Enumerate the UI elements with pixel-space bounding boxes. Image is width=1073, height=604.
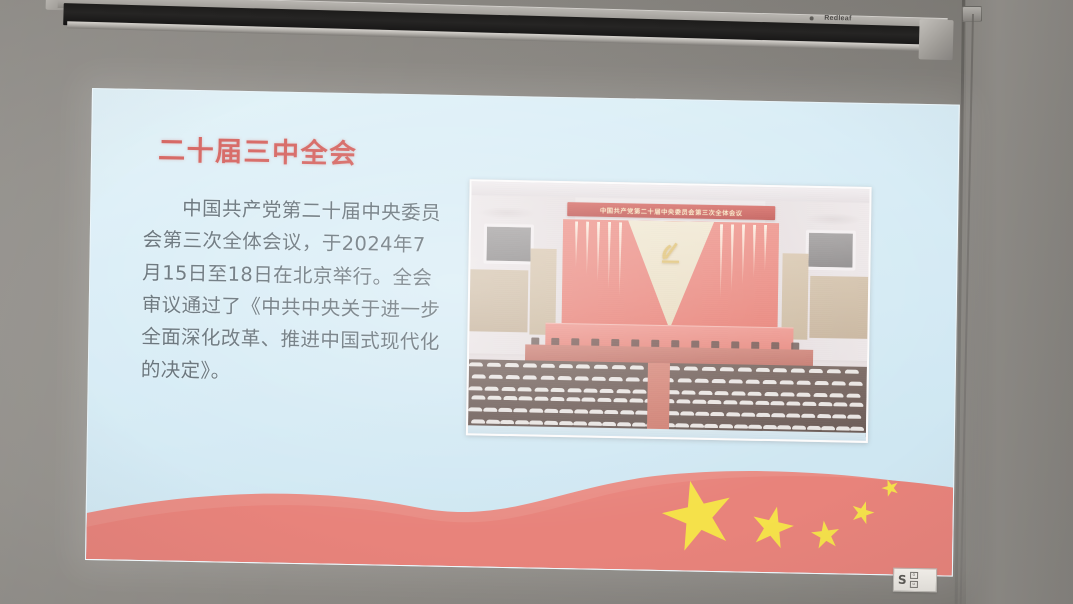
seat-headrest (472, 374, 486, 378)
seat-headrest (676, 399, 690, 403)
seat-headrest (731, 391, 745, 395)
seat-headrest (834, 402, 848, 406)
flag-star-small (750, 504, 795, 549)
seat-headrest (817, 414, 831, 418)
seat-headrest (830, 393, 844, 397)
seat-headrest (566, 397, 580, 401)
seat-headrest (802, 402, 816, 406)
sticker-glyph: S (898, 574, 907, 586)
seat-headrest (748, 392, 762, 396)
seat-headrest (746, 380, 760, 384)
seat-headrest (633, 389, 647, 393)
stage-flag (752, 225, 756, 278)
seat-headrest (605, 410, 619, 414)
seat-headrest (519, 396, 533, 400)
seat-headrest (729, 379, 743, 383)
stage-backdrop (562, 219, 780, 331)
hall-wall-panel-left (483, 224, 534, 265)
hall-banner-text: 中国共产党第二十届中央委员会第三次全体会议 (600, 205, 743, 217)
seat-headrest (847, 415, 861, 419)
seat-headrest (831, 381, 845, 385)
seat-headrest (469, 386, 483, 390)
seat-headrest (708, 400, 722, 404)
seat-headrest (485, 387, 499, 391)
stage-flag (741, 225, 745, 285)
seat-headrest (559, 409, 573, 413)
seat-headrest (468, 407, 482, 411)
seat-headrest (764, 392, 778, 396)
seat-headrest (773, 368, 787, 372)
seat-headrest (832, 414, 846, 418)
seat-headrest (609, 377, 623, 381)
stage-flags (562, 219, 780, 331)
seat-headrest (755, 368, 769, 372)
seat-headrest (592, 377, 606, 381)
seat-headrest (698, 391, 712, 395)
seat-headrest (558, 364, 572, 368)
sticker-marks: 0 u (910, 572, 918, 588)
seat-headrest (846, 394, 860, 398)
seat-headrest (702, 367, 716, 371)
seat-headrest (756, 413, 770, 417)
housing-right-endcap (919, 19, 954, 60)
seat-headrest (849, 382, 863, 386)
seat-headrest (503, 396, 517, 400)
seat-headrest (589, 410, 603, 414)
seat-headrest (696, 412, 710, 416)
plenary-session-photo: 中国共产党第二十届中央委员会第三次全体会议 (466, 179, 872, 443)
seat-headrest (541, 364, 555, 368)
seat-headrest (489, 375, 503, 379)
seat-headrest (741, 413, 755, 417)
wall-sticker: S 0 u (893, 568, 937, 593)
stage-flag (618, 222, 622, 296)
seat-headrest (612, 365, 626, 369)
seat-headrest (711, 412, 725, 416)
seat-headrest (814, 381, 828, 385)
stage-flag (607, 222, 611, 289)
seat-headrest (715, 391, 729, 395)
seat-headrest (629, 398, 643, 402)
seat-headrest (523, 375, 537, 379)
seat-headrest (501, 387, 515, 391)
hall-wainscot-right (809, 276, 868, 339)
seat-headrest (487, 363, 501, 367)
seat-headrest (550, 397, 564, 401)
hall-wall-panel-right (805, 230, 856, 271)
seat-headrest (682, 390, 696, 394)
seat-headrest (739, 400, 753, 404)
slide-title: 二十届三中全会 (158, 128, 358, 171)
seat-headrest (771, 413, 785, 417)
flag-star-small (881, 478, 899, 496)
seat-headrest (616, 389, 630, 393)
seat-headrest (583, 388, 597, 392)
seat-headrest (483, 408, 497, 412)
seat-headrest (787, 401, 801, 405)
seat-headrest (680, 411, 694, 415)
seat-headrest (791, 368, 805, 372)
seat-headrest (677, 378, 691, 382)
seat-headrest (780, 380, 794, 384)
seat-headrest (600, 389, 614, 393)
seat-headrest (582, 397, 596, 401)
seat-headrest (809, 369, 823, 373)
seat-headrest (786, 413, 800, 417)
seat-headrest (597, 398, 611, 402)
seat-headrest (780, 392, 794, 396)
slide-body-text: 中国共产党第二十届中央委员会第三次全体会议，于2024年7月15日至18日在北京… (141, 192, 444, 392)
seat-headrest (567, 388, 581, 392)
seat-headrest (505, 363, 519, 367)
seat-headrest (551, 388, 565, 392)
hall-wainscot-left (469, 269, 528, 332)
seat-headrest (630, 365, 644, 369)
party-emblem-icon (653, 237, 687, 270)
sticker-mark-top: 0 (910, 572, 918, 579)
seat-headrest (626, 377, 640, 381)
seat-headrest (726, 412, 740, 416)
stage-flag (585, 222, 589, 275)
wall-right-section (966, 0, 1073, 604)
seat-headrest (514, 408, 528, 412)
seat-headrest (540, 376, 554, 380)
seat-headrest (594, 365, 608, 369)
seat-headrest (518, 387, 532, 391)
seat-headrest (534, 397, 548, 401)
seat-headrest (692, 400, 706, 404)
seat-headrest (469, 362, 483, 366)
flag-star-small (851, 500, 875, 524)
seat-headrest (529, 408, 543, 412)
seat-headrest (755, 401, 769, 405)
seat-headrest (694, 379, 708, 383)
seat-headrest (818, 402, 832, 406)
seat-headrest (797, 393, 811, 397)
seat-headrest (763, 380, 777, 384)
sticker-mark-bottom: u (910, 581, 918, 588)
seat-headrest (845, 370, 859, 374)
stage-flag (574, 221, 578, 267)
seat-headrest (544, 409, 558, 413)
seat-headrest (797, 381, 811, 385)
seat-headrest (771, 401, 785, 405)
seat-headrest (813, 393, 827, 397)
seat-headrest (684, 366, 698, 370)
seat-headrest (724, 400, 738, 404)
seat-headrest (574, 409, 588, 413)
seat-headrest (487, 396, 501, 400)
seat-headrest (613, 398, 627, 402)
seat-headrest (620, 410, 634, 414)
seat-headrest (523, 363, 537, 367)
stage-flag (596, 222, 600, 282)
presentation-slide: 二十届三中全会 中国共产党第二十届中央委员会第三次全体会议，于2024年7月15… (85, 88, 960, 577)
stage-flag (730, 224, 734, 291)
seat-headrest (576, 364, 590, 368)
seat-headrest (499, 408, 513, 412)
slide-bottom-decoration (86, 409, 954, 576)
seat-headrest (534, 388, 548, 392)
stage-flag (719, 224, 723, 298)
projector-brand-label: Redleaf (824, 15, 852, 23)
seat-headrest (850, 403, 864, 407)
stage-flag (763, 225, 767, 271)
flag-star-large (660, 476, 735, 551)
seat-headrest (827, 369, 841, 373)
seat-headrest (720, 367, 734, 371)
seat-headrest (737, 367, 751, 371)
projected-slide-area: 二十届三中全会 中国共产党第二十届中央委员会第三次全体会议，于2024年7月15… (85, 88, 960, 577)
seat-headrest (712, 379, 726, 383)
seat-headrest (802, 414, 816, 418)
seat-headrest (557, 376, 571, 380)
photo-scene: Redleaf 二十届三中全会 中国共产党第二十届中央委员会第三次全体会议，于2… (0, 0, 1073, 604)
seat-headrest (506, 375, 520, 379)
flag-star-small (810, 519, 840, 550)
flag-stars-group (622, 449, 954, 575)
seat-headrest (471, 395, 485, 399)
seat-headrest (574, 376, 588, 380)
